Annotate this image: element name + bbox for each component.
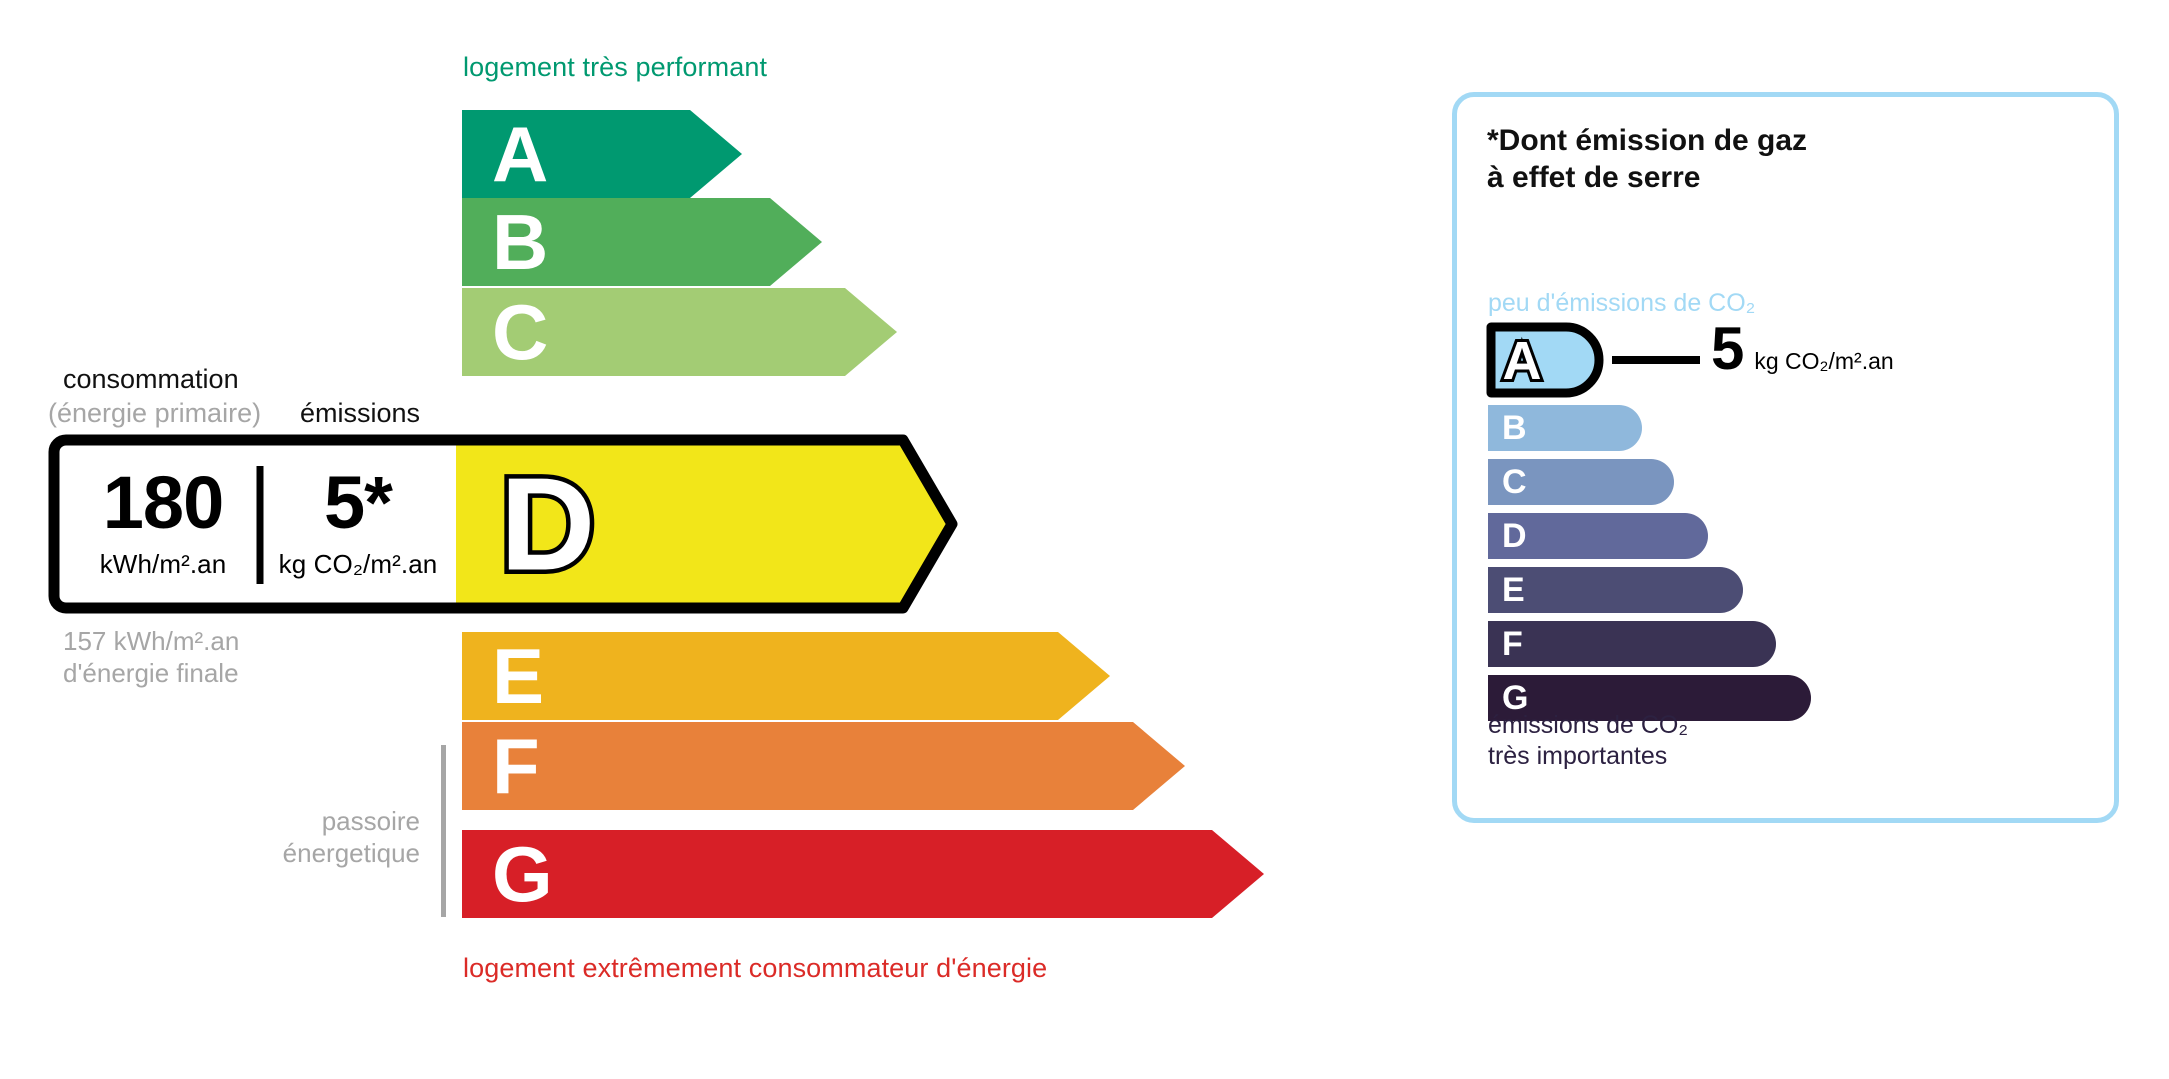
energy-band-C: C: [462, 288, 897, 376]
co2-panel-title: *Dont émission de gaz à effet de serre: [1487, 122, 1807, 196]
co2-emissions-panel: *Dont émission de gaz à effet de serre p…: [1452, 92, 2119, 823]
energy-band-letter-F: F: [492, 727, 540, 805]
co2-bar-C: C: [1488, 459, 1674, 505]
selected-band-letter: D: [500, 451, 595, 598]
co2-bar-F: F: [1488, 621, 1776, 667]
energy-band-A: A: [462, 110, 742, 198]
co2-bottom-line2: très importantes: [1488, 741, 1688, 772]
co2-title-line2: à effet de serre: [1487, 159, 1807, 196]
co2-bar-letter-D: D: [1502, 519, 1527, 553]
energy-band-letter-G: G: [492, 835, 553, 913]
energy-band-E: E: [462, 632, 1110, 720]
co2-bar-letter-B: B: [1502, 411, 1527, 445]
co2-bottom-line1: émissions de CO₂: [1488, 710, 1688, 741]
co2-title-line1: *Dont émission de gaz: [1487, 122, 1807, 159]
co2-connector-line: [1612, 356, 1700, 364]
co2-value-group: 5 kg CO₂/m².an: [1711, 319, 1894, 379]
co2-bar-letter-C: C: [1502, 465, 1527, 499]
co2-bar-D: D: [1488, 513, 1708, 559]
final-energy-note: 157 kWh/m².an d'énergie finale: [63, 626, 239, 689]
co2-value-unit: kg CO₂/m².an: [1754, 348, 1893, 375]
co2-bar-E: E: [1488, 567, 1743, 613]
selected-band-row-D: D 180 kWh/m².an 5* kg CO₂/m².an: [48, 434, 958, 614]
passoire-marker-line: [441, 745, 446, 917]
co2-bar-B: B: [1488, 405, 1642, 451]
consumption-value: 180: [103, 468, 223, 538]
energy-band-letter-A: A: [492, 115, 548, 193]
energy-band-letter-C: C: [492, 293, 548, 371]
co2-value: 5: [1711, 319, 1744, 379]
energy-band-G: G: [462, 830, 1264, 918]
passoire-label: passoire énergetique: [180, 806, 420, 869]
final-energy-line2: d'énergie finale: [63, 658, 239, 690]
co2-bottom-label: émissions de CO₂ très importantes: [1488, 710, 1688, 771]
final-energy-line1: 157 kWh/m².an: [63, 626, 239, 658]
consumption-value-block: 180 kWh/m².an: [66, 434, 260, 614]
co2-selected-badge-A: A: [1486, 322, 1604, 398]
energy-band-letter-E: E: [492, 637, 544, 715]
energy-band-F: F: [462, 722, 1185, 810]
scale-bottom-label: logement extrêmement consommateur d'éner…: [463, 953, 1047, 984]
emissions-header: émissions: [300, 398, 420, 429]
emission-value-block: 5* kg CO₂/m².an: [260, 434, 456, 614]
consumption-header-line1: consommation: [63, 364, 239, 395]
co2-bar-letter-F: F: [1502, 627, 1523, 661]
co2-top-label: peu d'émissions de CO₂: [1488, 289, 1755, 318]
emission-value: 5*: [324, 468, 392, 538]
energy-band-letter-B: B: [492, 203, 548, 281]
passoire-label-line1: passoire: [180, 806, 420, 838]
consumption-header-line2: (énergie primaire): [48, 398, 261, 429]
energy-performance-scale: logement très performant ABCEFG consomma…: [0, 0, 1320, 1079]
scale-top-label: logement très performant: [463, 52, 767, 83]
passoire-label-line2: énergetique: [180, 838, 420, 870]
co2-bar-letter-E: E: [1502, 573, 1525, 607]
energy-band-B: B: [462, 198, 822, 286]
co2-selected-letter: A: [1503, 331, 1542, 391]
emission-unit: kg CO₂/m².an: [279, 549, 438, 580]
consumption-unit: kWh/m².an: [100, 549, 227, 580]
